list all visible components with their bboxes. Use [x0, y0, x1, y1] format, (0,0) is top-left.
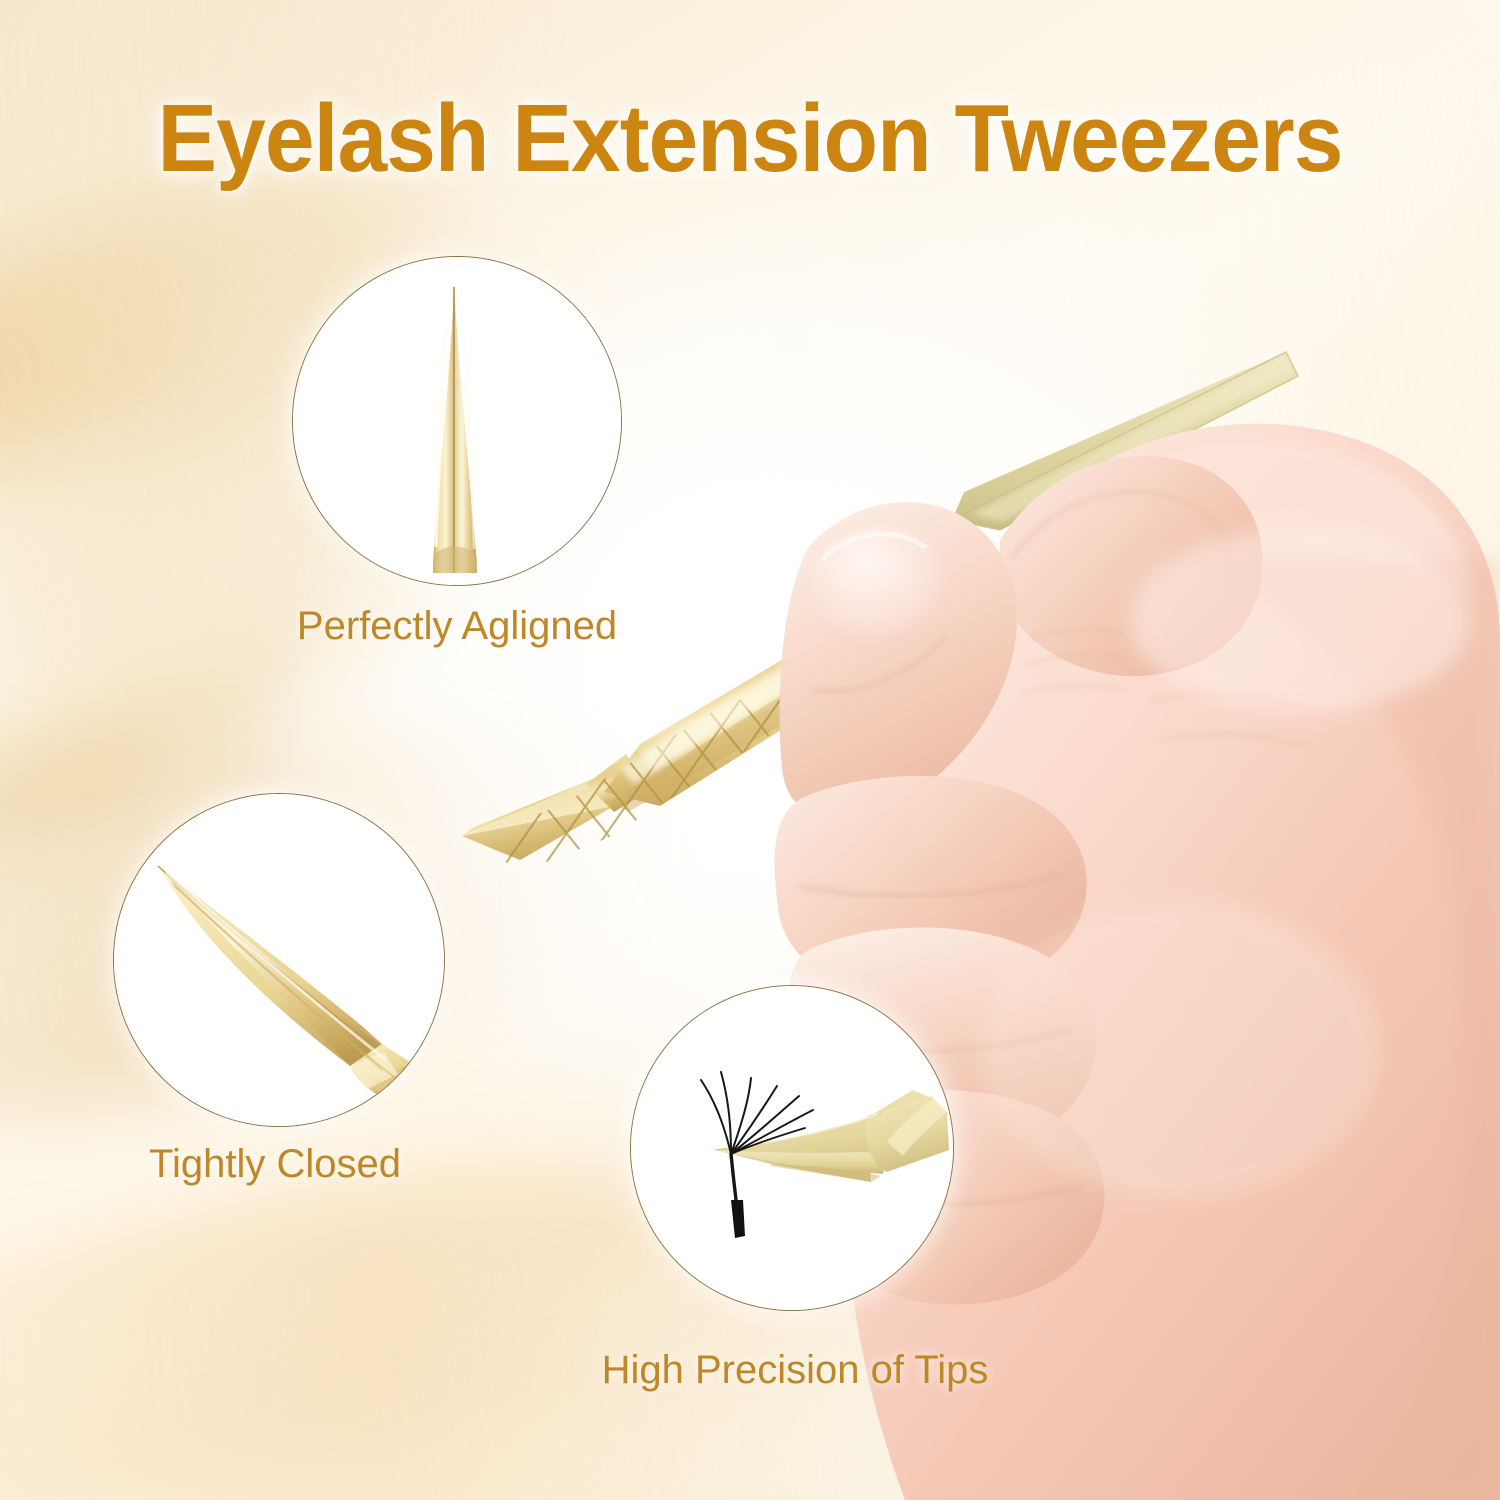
closed-tip-illustration: [114, 794, 444, 1126]
product-image-canvas: Eyelash Extension Tweezers: [0, 0, 1500, 1500]
feature-caption-high-precision: High Precision of Tips: [545, 1348, 1045, 1393]
straight-tip-illustration: [293, 257, 621, 585]
feature-circle-perfectly-aligned: [292, 256, 622, 586]
feature-circle-tightly-closed: [113, 793, 445, 1127]
feature-circle-high-precision: [630, 985, 954, 1311]
lash-fan-illustration: [631, 986, 953, 1310]
page-title: Eyelash Extension Tweezers: [53, 84, 1448, 194]
feature-caption-tightly-closed: Tightly Closed: [125, 1142, 425, 1187]
feature-caption-perfectly-aligned: Perfectly Agligned: [272, 604, 642, 649]
